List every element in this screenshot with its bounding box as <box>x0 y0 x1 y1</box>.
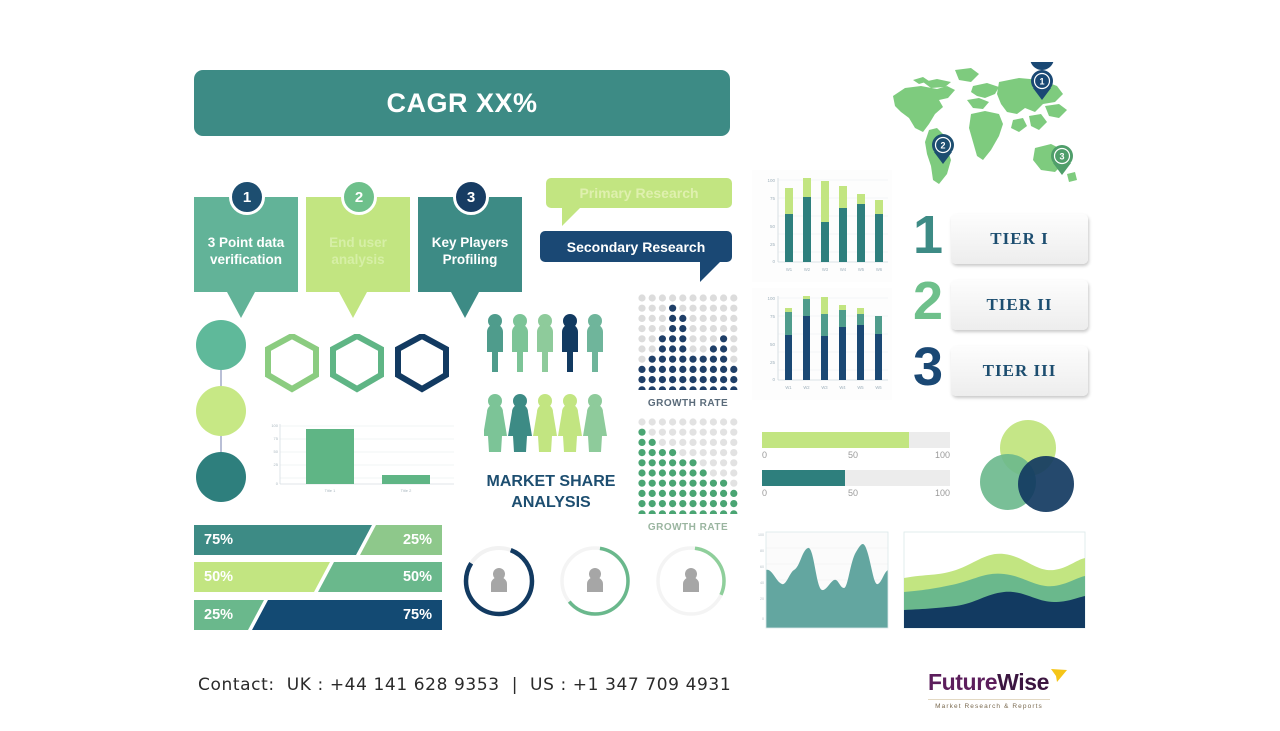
matrix-dot <box>700 480 707 487</box>
slider-tick-50-2: 50 <box>848 488 858 498</box>
growth-rate-chart-green: GROWTH RATE <box>636 416 740 533</box>
person-icon-row1-5 <box>587 314 603 372</box>
chart-grid <box>778 298 888 370</box>
bar-series <box>785 178 883 262</box>
matrix-dot <box>659 325 666 332</box>
step-callout-1: 1 3 Point data verification <box>194 197 298 318</box>
slider-tick-50-1: 50 <box>848 450 858 460</box>
svg-text:100: 100 <box>758 533 764 537</box>
matrix-dot <box>710 366 717 373</box>
percent-bar-left-value-2: 50% <box>204 562 233 592</box>
matrix-dot <box>679 459 686 466</box>
growth-rate-label-green: GROWTH RATE <box>636 522 740 533</box>
gauge-chart-2 <box>556 542 634 620</box>
matrix-dot <box>700 356 707 363</box>
stack-circle-1 <box>196 320 246 370</box>
matrix-dot <box>700 469 707 476</box>
matrix-dot <box>679 439 686 446</box>
matrix-dot <box>659 345 666 352</box>
svg-text:100: 100 <box>271 423 278 428</box>
matrix-dot <box>669 439 676 446</box>
svg-text:25: 25 <box>274 462 279 467</box>
small-bar-chart: 1007550 250 Title 1Title 2 <box>258 418 458 498</box>
matrix-dot <box>669 449 676 456</box>
matrix-dot <box>689 418 696 425</box>
matrix-dot <box>659 490 666 497</box>
matrix-dot <box>669 376 676 383</box>
tier-number-3: 3 <box>913 340 943 394</box>
person-icon-gauge-1 <box>491 568 507 592</box>
matrix-dot <box>720 376 727 383</box>
matrix-dot <box>659 418 666 425</box>
matrix-dot <box>720 366 727 373</box>
svg-text:40: 40 <box>760 581 764 585</box>
step-badge-2: 2 <box>341 179 377 215</box>
matrix-dot <box>679 490 686 497</box>
progress-slider-2[interactable]: 0 50 100 <box>762 470 950 502</box>
matrix-dot <box>700 376 707 383</box>
matrix-dot <box>689 510 696 514</box>
matrix-dot <box>659 376 666 383</box>
matrix-dot <box>710 439 717 446</box>
tier-number-2: 2 <box>913 274 943 328</box>
svg-text:75: 75 <box>274 436 279 441</box>
matrix-dot <box>710 305 717 312</box>
matrix-dot <box>700 418 707 425</box>
hexagon-outline-1 <box>268 336 316 389</box>
matrix-dot <box>710 376 717 383</box>
matrix-dot <box>679 305 686 312</box>
svg-text:W3: W3 <box>822 267 829 272</box>
contact-uk: UK : +44 141 628 9353 <box>287 675 500 695</box>
matrix-dot <box>638 480 645 487</box>
matrix-dot <box>689 386 696 390</box>
percent-bar-left-value-1: 75% <box>204 525 233 555</box>
matrix-dot <box>700 386 707 390</box>
svg-text:25: 25 <box>770 360 776 365</box>
matrix-dot <box>710 449 717 456</box>
svg-text:W2: W2 <box>804 267 811 272</box>
secondary-research-bubble: Secondary Research <box>540 231 732 282</box>
svg-text:W2: W2 <box>803 385 810 390</box>
matrix-dot <box>700 510 707 514</box>
hexagon-outline-3 <box>398 336 446 389</box>
matrix-dot <box>720 294 727 301</box>
svg-text:W5: W5 <box>858 267 865 272</box>
matrix-dot <box>710 480 717 487</box>
progress-slider-fill-2 <box>762 470 845 486</box>
percent-bar-row-3: 25% 75% <box>194 600 442 630</box>
contact-us: US : +1 347 709 4931 <box>530 675 731 695</box>
growth-rate-chart-dark: GROWTH RATE <box>636 292 740 409</box>
tier-item-1[interactable]: 1 TIER I <box>913 214 1088 264</box>
person-icon-row1-2 <box>512 314 528 372</box>
matrix-dot <box>679 294 686 301</box>
matrix-dot <box>638 490 645 497</box>
matrix-dot <box>659 500 666 507</box>
matrix-dot <box>730 459 737 466</box>
svg-text:W6: W6 <box>876 267 883 272</box>
tier-item-2[interactable]: 2 TIER II <box>913 280 1088 330</box>
logo-word-wise: Wise <box>997 669 1049 695</box>
matrix-dot <box>649 418 656 425</box>
percent-bar-right-value-1: 25% <box>403 525 432 555</box>
x-tick-labels: W1W2W3 W4W5W6 <box>785 385 882 390</box>
svg-text:80: 80 <box>760 549 764 553</box>
matrix-dot <box>720 305 727 312</box>
matrix-dot <box>679 366 686 373</box>
matrix-dot <box>710 325 717 332</box>
matrix-dot <box>659 294 666 301</box>
matrix-dot <box>720 315 727 322</box>
circle-stack <box>196 320 246 500</box>
growth-rate-label-dark: GROWTH RATE <box>636 398 740 409</box>
matrix-dot <box>710 335 717 342</box>
matrix-dot <box>700 449 707 456</box>
venn-diagram <box>978 418 1078 518</box>
matrix-dot <box>689 356 696 363</box>
matrix-dot <box>689 305 696 312</box>
primary-research-bubble: Primary Research <box>546 178 732 226</box>
matrix-dot <box>710 429 717 436</box>
logo-tagline: Market Research & Reports <box>928 699 1050 710</box>
matrix-dot <box>679 386 686 390</box>
logo-word-future: Future <box>928 669 997 695</box>
step-tail-3 <box>451 292 479 318</box>
person-icon-row2-3 <box>533 394 557 452</box>
matrix-dot <box>700 325 707 332</box>
step-badge-1: 1 <box>229 179 265 215</box>
area-chart-mono: 1008060 40200 <box>752 530 890 634</box>
matrix-dot <box>700 315 707 322</box>
matrix-dot <box>669 294 676 301</box>
matrix-dot <box>669 500 676 507</box>
y-tick-labels: 10075 50250 <box>767 296 775 382</box>
matrix-dot <box>679 449 686 456</box>
tier-number-1: 1 <box>913 208 943 262</box>
matrix-dot <box>720 500 727 507</box>
matrix-dot <box>700 459 707 466</box>
svg-text:25: 25 <box>770 242 776 247</box>
infographic-canvas: CAGR XX% 1 3 Point data verification 2 E… <box>0 0 1280 731</box>
matrix-dot <box>679 376 686 383</box>
matrix-dot <box>649 459 656 466</box>
person-icon-gauge-3 <box>683 568 699 592</box>
matrix-dot <box>730 469 737 476</box>
matrix-dot <box>689 480 696 487</box>
person-icon-row1-3 <box>537 314 553 372</box>
percent-bar-row-2: 50% 50% <box>194 562 442 592</box>
matrix-dot <box>689 469 696 476</box>
tier-label-3: TIER III <box>951 346 1088 396</box>
world-map: 1 2 3 <box>885 62 1090 202</box>
svg-text:0: 0 <box>772 259 775 264</box>
matrix-dot <box>720 469 727 476</box>
svg-text:W1: W1 <box>786 267 793 272</box>
matrix-dot <box>730 376 737 383</box>
percent-bar-row-1: 75% 25% <box>194 525 442 555</box>
matrix-dot <box>638 345 645 352</box>
matrix-dot <box>710 500 717 507</box>
person-icon-row1-4 <box>562 314 578 372</box>
matrix-dot <box>659 366 666 373</box>
svg-text:W4: W4 <box>840 267 847 272</box>
tier-label-2: TIER II <box>951 280 1088 330</box>
svg-text:Title 2: Title 2 <box>401 488 413 493</box>
svg-text:60: 60 <box>760 565 764 569</box>
matrix-dot <box>649 345 656 352</box>
person-icon-row2-1 <box>484 394 507 452</box>
matrix-dot <box>730 480 737 487</box>
svg-text:100: 100 <box>767 178 775 183</box>
matrix-dot <box>720 480 727 487</box>
x-tick-labels: Title 1Title 2 <box>325 488 413 493</box>
progress-slider-fill-1 <box>762 432 909 448</box>
matrix-dot <box>689 366 696 373</box>
matrix-dot <box>720 418 727 425</box>
matrix-dot <box>720 325 727 332</box>
y-tick-labels: 1007550 250 <box>271 423 278 486</box>
matrix-dot <box>730 429 737 436</box>
matrix-dot <box>649 366 656 373</box>
matrix-dot <box>720 356 727 363</box>
stack-circle-3 <box>196 452 246 502</box>
matrix-dot <box>638 335 645 342</box>
slider-tick-0-2: 0 <box>762 488 767 498</box>
market-share-analysis-title: MARKET SHARE ANALYSIS <box>466 472 636 514</box>
matrix-dot <box>730 305 737 312</box>
matrix-dot <box>649 335 656 342</box>
svg-text:W3: W3 <box>821 385 828 390</box>
matrix-dot <box>649 510 656 514</box>
matrix-dot <box>730 418 737 425</box>
percent-bar-left-value-3: 25% <box>204 600 233 630</box>
contact-separator: | <box>512 675 518 695</box>
matrix-dot <box>669 490 676 497</box>
bar-series <box>785 296 882 380</box>
percent-bar-right-value-3: 75% <box>403 600 432 630</box>
svg-text:0: 0 <box>772 377 775 382</box>
matrix-dot <box>730 366 737 373</box>
matrix-dot <box>710 418 717 425</box>
matrix-dot <box>638 315 645 322</box>
hexagon-row <box>262 334 462 396</box>
growth-rate-dots-dark <box>636 292 740 390</box>
svg-text:W5: W5 <box>857 385 864 390</box>
matrix-dot <box>710 294 717 301</box>
matrix-dot <box>638 356 645 363</box>
matrix-dot <box>669 510 676 514</box>
matrix-dot <box>638 510 645 514</box>
matrix-dot <box>689 315 696 322</box>
matrix-dot <box>649 294 656 301</box>
matrix-dot <box>689 376 696 383</box>
logo-arrow-icon <box>1050 668 1068 684</box>
stack-connector-2 <box>220 436 222 452</box>
matrix-dot <box>669 356 676 363</box>
matrix-dot <box>730 490 737 497</box>
matrix-dot <box>649 305 656 312</box>
svg-text:75: 75 <box>770 196 776 201</box>
map-pin-2-label: 2 <box>940 141 945 151</box>
step-callout-3: 3 Key Players Profiling <box>418 197 522 318</box>
matrix-dot <box>710 459 717 466</box>
matrix-dot <box>669 469 676 476</box>
tier-item-3[interactable]: 3 TIER III <box>913 346 1088 396</box>
matrix-dot <box>689 439 696 446</box>
matrix-dot <box>730 386 737 390</box>
tier-label-1: TIER I <box>951 214 1088 264</box>
matrix-dot <box>679 315 686 322</box>
matrix-dot <box>669 335 676 342</box>
progress-slider-track-1 <box>762 432 950 448</box>
matrix-dot <box>659 429 666 436</box>
matrix-dot <box>710 490 717 497</box>
matrix-dot <box>649 386 656 390</box>
matrix-dot <box>720 490 727 497</box>
svg-text:0: 0 <box>276 481 279 486</box>
matrix-dot <box>669 386 676 390</box>
y-tick-labels: 10075 50250 <box>767 178 775 264</box>
matrix-dot <box>730 335 737 342</box>
matrix-dot <box>638 429 645 436</box>
svg-text:Title 1: Title 1 <box>325 488 337 493</box>
matrix-dot <box>638 449 645 456</box>
map-pin-3-label: 3 <box>1059 152 1064 162</box>
matrix-dot <box>638 459 645 466</box>
slider-tick-100-2: 100 <box>935 488 950 498</box>
matrix-dot <box>669 429 676 436</box>
futurewise-logo[interactable]: FutureWise Market Research & Reports <box>928 668 1078 714</box>
person-icon-row2-2 <box>508 394 532 452</box>
svg-text:50: 50 <box>770 342 776 347</box>
person-icon-row1-1 <box>487 314 503 372</box>
matrix-dot <box>659 459 666 466</box>
matrix-dot <box>638 439 645 446</box>
slider-tick-100-1: 100 <box>935 450 950 460</box>
matrix-dot <box>700 294 707 301</box>
matrix-dot <box>689 449 696 456</box>
svg-text:20: 20 <box>760 597 764 601</box>
matrix-dot <box>710 345 717 352</box>
growth-rate-dots-green <box>636 416 740 514</box>
matrix-dot <box>710 356 717 363</box>
matrix-dot <box>669 325 676 332</box>
matrix-dot <box>679 418 686 425</box>
matrix-dot <box>649 429 656 436</box>
matrix-dot <box>700 366 707 373</box>
bar-title-2 <box>382 475 430 484</box>
matrix-dot <box>720 429 727 436</box>
progress-slider-1[interactable]: 0 50 100 <box>762 432 950 464</box>
matrix-dot <box>638 376 645 383</box>
cagr-banner-title: CAGR XX% <box>386 88 537 119</box>
progress-slider-scale-2: 0 50 100 <box>762 488 950 502</box>
matrix-dot <box>659 315 666 322</box>
gauge-chart-3 <box>652 542 730 620</box>
matrix-dot <box>659 449 666 456</box>
matrix-dot <box>669 459 676 466</box>
progress-slider-scale-1: 0 50 100 <box>762 450 950 464</box>
matrix-dot <box>730 449 737 456</box>
svg-text:50: 50 <box>770 224 776 229</box>
gauge-chart-1 <box>460 542 538 620</box>
matrix-dot <box>730 294 737 301</box>
svg-text:W6: W6 <box>875 385 882 390</box>
matrix-dot <box>659 386 666 390</box>
matrix-dot <box>649 500 656 507</box>
matrix-dot <box>638 294 645 301</box>
matrix-dot <box>638 325 645 332</box>
matrix-dot <box>659 305 666 312</box>
matrix-dot <box>700 335 707 342</box>
step-tail-1 <box>227 292 255 318</box>
secondary-research-tail <box>700 262 720 282</box>
bar-title-1 <box>306 429 354 484</box>
step-badge-3: 3 <box>453 179 489 215</box>
svg-text:75: 75 <box>770 314 776 319</box>
person-icon-gauge-2 <box>587 568 603 592</box>
secondary-research-label: Secondary Research <box>540 231 732 262</box>
matrix-dot <box>659 469 666 476</box>
matrix-dot <box>669 305 676 312</box>
people-pictogram <box>484 312 614 472</box>
matrix-dot <box>679 325 686 332</box>
matrix-dot <box>638 366 645 373</box>
matrix-dot <box>700 439 707 446</box>
matrix-dot <box>700 490 707 497</box>
matrix-dot <box>730 345 737 352</box>
matrix-dot <box>659 510 666 514</box>
matrix-dot <box>700 500 707 507</box>
svg-text:50: 50 <box>274 449 279 454</box>
matrix-dot <box>720 449 727 456</box>
matrix-dot <box>689 325 696 332</box>
cagr-banner: CAGR XX% <box>194 70 730 136</box>
matrix-dot <box>638 500 645 507</box>
matrix-dot <box>659 356 666 363</box>
logo-wordmark: FutureWise <box>928 668 1078 696</box>
svg-text:W4: W4 <box>839 385 846 390</box>
step-callout-2: 2 End user analysis <box>306 197 410 318</box>
primary-research-tail <box>562 208 580 226</box>
matrix-dot <box>689 459 696 466</box>
matrix-dot <box>649 449 656 456</box>
matrix-dot <box>649 356 656 363</box>
svg-text:100: 100 <box>767 296 775 301</box>
matrix-dot <box>730 510 737 514</box>
matrix-dot <box>710 315 717 322</box>
matrix-dot <box>649 490 656 497</box>
svg-text:W1: W1 <box>785 385 792 390</box>
x-tick-labels: W1W2W3 W4W5W6 <box>786 267 883 272</box>
contact-label: Contact: <box>198 675 275 695</box>
area-chart-stacked <box>902 530 1087 634</box>
matrix-dot <box>689 294 696 301</box>
matrix-dot <box>669 315 676 322</box>
matrix-dot <box>710 510 717 514</box>
chart-grid <box>778 180 888 252</box>
matrix-dot <box>638 305 645 312</box>
svg-text:0: 0 <box>762 617 764 621</box>
matrix-dot <box>659 480 666 487</box>
matrix-dot <box>730 325 737 332</box>
matrix-dot <box>669 366 676 373</box>
stacked-bar-chart-top: 10075 50250 W1W2W3 W4W5W6 <box>752 170 892 282</box>
matrix-dot <box>679 429 686 436</box>
matrix-dot <box>649 315 656 322</box>
matrix-dot <box>730 356 737 363</box>
